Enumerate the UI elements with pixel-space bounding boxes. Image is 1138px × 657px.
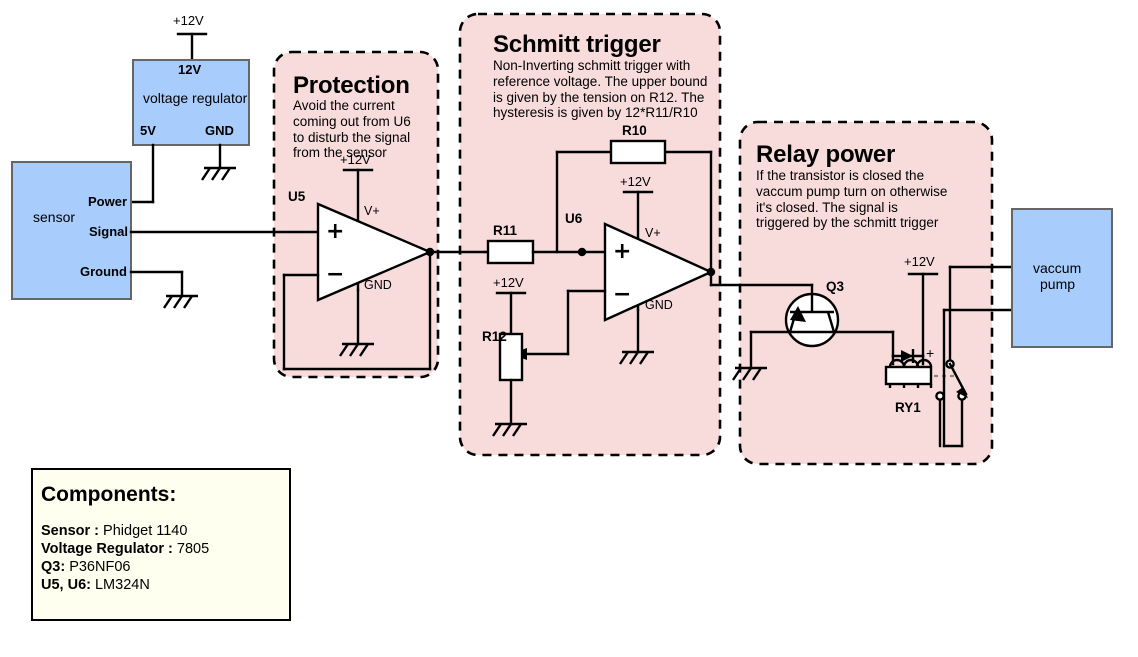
opamp-u5-gnd-pin: GND <box>364 278 392 293</box>
legend-row-key: Sensor : <box>41 523 99 539</box>
schmitt-supply-label: +12V <box>620 174 651 189</box>
wire-reg-gnd-to-ground <box>202 145 236 180</box>
junction-u6-plus-node <box>578 248 586 256</box>
wire-sensor-ground <box>131 272 198 308</box>
supply-label-top: +12V <box>173 13 204 28</box>
vacuum-pump-label-line2: pump <box>1040 276 1075 292</box>
flyback-diode-plus-label: + <box>926 345 934 361</box>
opamp-u6-vplus-pin: V+ <box>645 226 661 241</box>
schmitt-desc: Non-Inverting schmitt trigger with refer… <box>493 58 713 121</box>
relay-title: Relay power <box>756 141 895 169</box>
resistor-r11-symbol <box>488 241 533 263</box>
legend-row: Q3: P36NF06 <box>41 559 209 575</box>
circuit-diagram-canvas: +12V 12V voltage regulator 5V GND sensor… <box>0 0 1138 657</box>
legend-row-value: Phidget 1140 <box>99 523 187 539</box>
opamp-u5-plus-sign: + <box>326 219 344 245</box>
legend-row-key: Q3: <box>41 559 65 575</box>
opamp-u5-ref: U5 <box>288 189 305 205</box>
regulator-pin-gnd: GND <box>205 123 234 138</box>
legend-row: U5, U6: LM324N <box>41 577 209 593</box>
legend-rows: Sensor : Phidget 1140 Voltage Regulator … <box>41 523 209 595</box>
sensor-name: sensor <box>33 209 75 225</box>
opamp-u6-gnd-pin: GND <box>645 298 673 313</box>
legend-row: Voltage Regulator : 7805 <box>41 541 209 557</box>
opamp-u6-minus-sign: − <box>613 282 631 308</box>
resistor-r10-label: R10 <box>622 123 647 139</box>
resistor-r11-label: R11 <box>493 223 517 239</box>
legend-row-key: U5, U6: <box>41 577 91 593</box>
opamp-u6-ref: U6 <box>565 211 582 227</box>
regulator-name: voltage regulator <box>143 90 247 106</box>
ground-symbol-regulator <box>202 168 236 180</box>
regulator-pin-5v: 5V <box>140 123 156 138</box>
relay-supply-label: +12V <box>904 254 935 269</box>
sensor-pin-ground: Ground <box>80 264 127 279</box>
sensor-pin-signal: Signal <box>89 224 128 239</box>
schmitt-pot-supply-label: +12V <box>493 275 524 290</box>
protection-supply-label: +12V <box>340 152 371 167</box>
ground-symbol-sensor <box>164 296 198 308</box>
legend-title: Components: <box>41 483 176 508</box>
legend-row-value: P36NF06 <box>65 559 130 575</box>
vacuum-pump-label-line1: vaccum <box>1033 260 1081 276</box>
regulator-pin-12v: 12V <box>178 62 201 77</box>
schmitt-title: Schmitt trigger <box>493 31 661 59</box>
relay-ry1-label: RY1 <box>895 400 921 416</box>
protection-title: Protection <box>293 72 410 100</box>
legend-row-value: LM324N <box>91 577 150 593</box>
relay-desc: If the transistor is closed the vaccum p… <box>756 168 952 231</box>
sensor-pin-power: Power <box>88 194 127 209</box>
opamp-u5-vplus-pin: V+ <box>364 204 380 219</box>
transistor-q3-label: Q3 <box>826 279 844 295</box>
legend-row-key: Voltage Regulator : <box>41 541 173 557</box>
resistor-r12-label: R12 <box>482 329 507 345</box>
legend-row-value: 7805 <box>173 541 209 557</box>
resistor-r10-symbol <box>611 141 665 163</box>
opamp-u5-minus-sign: − <box>326 262 344 288</box>
opamp-u6-plus-sign: + <box>613 239 631 265</box>
wire-reg5v-to-sensor-power <box>131 145 153 202</box>
legend-row: Sensor : Phidget 1140 <box>41 523 209 539</box>
supply-symbol-top <box>178 34 206 60</box>
